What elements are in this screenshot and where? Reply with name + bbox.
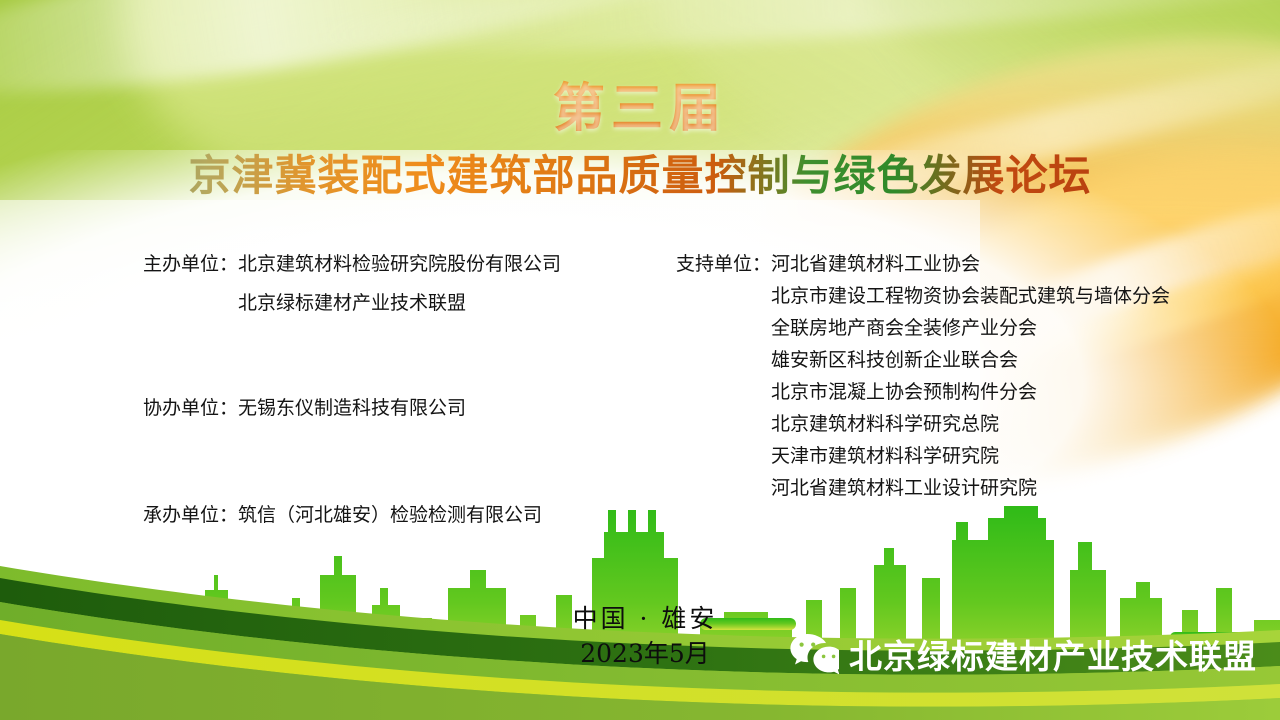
- supporter-item: 河北省建筑材料工业协会: [771, 255, 1236, 274]
- supporter-item: 全联房地产商会全装修产业分会: [771, 319, 1236, 338]
- wechat-account-badge: 北京绿标建材产业技术联盟: [789, 630, 1257, 678]
- supporters-values: 河北省建筑材料工业协会 北京市建设工程物资协会装配式建筑与墙体分会 全联房地产商…: [771, 255, 1236, 498]
- organizer-label-host: 主办单位：: [143, 255, 238, 274]
- event-date: 2023年5月: [500, 636, 790, 671]
- page-subtitle: 京津冀装配式建筑部品质量控制与绿色发展论坛: [0, 142, 1280, 203]
- supporter-item: 北京市混凝上协会预制构件分会: [771, 383, 1236, 402]
- conference-poster: 第三届 京津冀装配式建筑部品质量控制与绿色发展论坛 主办单位： 北京建筑材料检验…: [0, 0, 1280, 720]
- organizer-value: 北京建筑材料检验研究院股份有限公司: [238, 255, 663, 274]
- supporter-item: 北京市建设工程物资协会装配式建筑与墙体分会: [771, 287, 1236, 306]
- organizer-value: 北京绿标建材产业技术联盟: [238, 294, 663, 313]
- organizer-label-coorganizer: 协办单位：: [143, 399, 238, 418]
- event-location: 中国 · 雄安: [500, 601, 790, 636]
- organizer-value: 无锡东仪制造科技有限公司: [238, 399, 663, 418]
- spacer: [143, 313, 663, 399]
- organizer-row-coorganizer: 协办单位： 无锡东仪制造科技有限公司: [143, 399, 663, 418]
- wechat-account-name: 北京绿标建材产业技术联盟: [849, 630, 1257, 678]
- organizer-values-coorganizer: 无锡东仪制造科技有限公司: [238, 399, 663, 418]
- supporters-column: 支持单位： 河北省建筑材料工业协会 北京市建设工程物资协会装配式建筑与墙体分会 …: [676, 255, 1236, 498]
- organizer-row-host: 主办单位： 北京建筑材料检验研究院股份有限公司 北京绿标建材产业技术联盟: [143, 255, 663, 313]
- highlight-streak-2: [299, 0, 1280, 73]
- event-location-date: 中国 · 雄安 2023年5月: [500, 601, 790, 671]
- wechat-icon: [789, 632, 839, 676]
- supporter-item: 天津市建筑材料科学研究院: [771, 447, 1236, 466]
- supporter-row: 支持单位： 河北省建筑材料工业协会 北京市建设工程物资协会装配式建筑与墙体分会 …: [676, 255, 1236, 498]
- supporter-item: 雄安新区科技创新企业联合会: [771, 351, 1236, 370]
- supporter-item: 北京建筑材料科学研究总院: [771, 415, 1236, 434]
- supporters-label: 支持单位：: [676, 255, 771, 274]
- decorative-curved-bands: [0, 470, 1280, 720]
- page-title: 第三届: [0, 66, 1280, 141]
- organizer-values-host: 北京建筑材料检验研究院股份有限公司 北京绿标建材产业技术联盟: [238, 255, 663, 313]
